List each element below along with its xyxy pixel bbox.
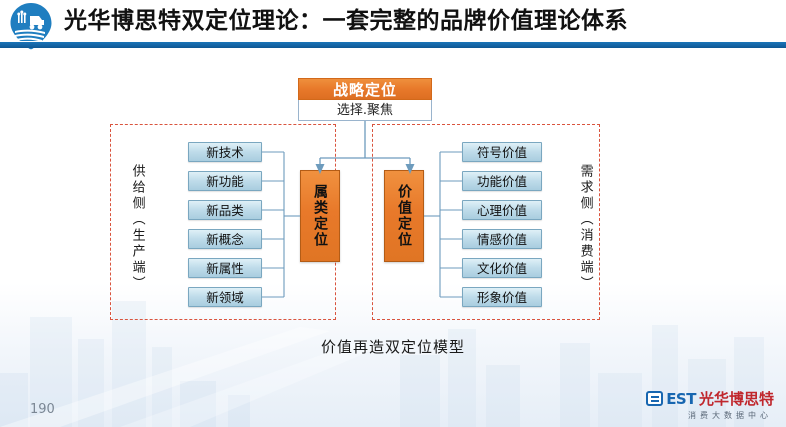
diagram-caption: 价值再造双定位模型 — [0, 336, 786, 357]
strategy-box[interactable]: 战略定位 选择.聚焦 — [298, 78, 432, 121]
list-item[interactable]: 新品类 — [188, 200, 262, 220]
brand-cn-text: 光华博思特 — [699, 388, 774, 409]
list-item[interactable]: 新概念 — [188, 229, 262, 249]
brand-subtitle: 消费大数据中心 — [646, 410, 772, 421]
page-number: 190 — [30, 402, 55, 417]
list-item[interactable]: 形象价值 — [462, 287, 542, 307]
list-item[interactable]: 新属性 — [188, 258, 262, 278]
list-item[interactable]: 功能价值 — [462, 171, 542, 191]
value-positioning-label: 价值定位 — [394, 184, 414, 248]
list-item[interactable]: 文化价值 — [462, 258, 542, 278]
diagram-canvas: 战略定位 选择.聚焦 供给侧（生产端） 需求侧（消费端） 新技术 新功能 新品类… — [0, 48, 786, 378]
page-title: 光华博思特双定位理论：一套完整的品牌价值理论体系 — [64, 4, 628, 38]
list-item[interactable]: 新技术 — [188, 142, 262, 162]
list-item[interactable]: 符号价值 — [462, 142, 542, 162]
list-item[interactable]: 新功能 — [188, 171, 262, 191]
brand-en-text: EST — [666, 390, 696, 408]
list-item[interactable]: 新领域 — [188, 287, 262, 307]
list-item[interactable]: 心理价值 — [462, 200, 542, 220]
category-positioning-label: 属类定位 — [310, 184, 330, 248]
supply-side-label: 供给侧（生产端） — [130, 164, 144, 292]
list-item[interactable]: 情感价值 — [462, 229, 542, 249]
slide-root: 光华博思特双定位理论：一套完整的品牌价值理论体系 — [0, 0, 786, 427]
demand-side-label: 需求侧（消费端） — [578, 164, 592, 292]
value-positioning-box[interactable]: 价值定位 — [384, 170, 424, 262]
title-rule — [0, 42, 786, 48]
strategy-box-header: 战略定位 — [298, 78, 432, 100]
category-positioning-box[interactable]: 属类定位 — [300, 170, 340, 262]
strategy-box-body: 选择.聚焦 — [298, 100, 432, 121]
best-logo-icon — [646, 391, 663, 406]
brand-footer: EST 光华博思特 消费大数据中心 — [646, 388, 774, 421]
slide-header: 光华博思特双定位理论：一套完整的品牌价值理论体系 — [0, 0, 786, 48]
